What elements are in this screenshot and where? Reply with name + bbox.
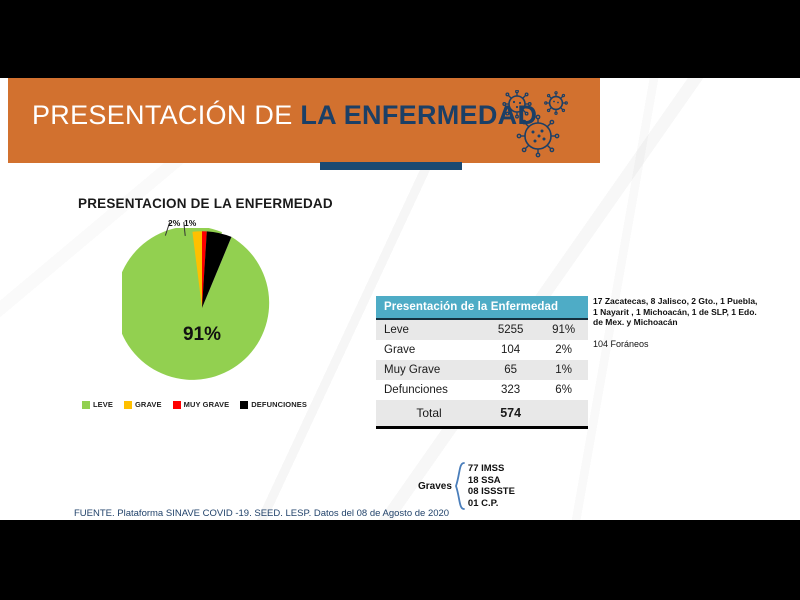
- legend-item-leve: LEVE: [82, 400, 113, 409]
- legend-swatch-leve: [82, 401, 90, 409]
- cell-label-defunciones: Defunciones: [376, 380, 482, 400]
- graves-list: 77 IMSS 18 SSA 08 ISSSTE 01 C.P.: [468, 463, 515, 509]
- legend-label-grave: GRAVE: [135, 400, 162, 409]
- coronavirus-icon: [498, 90, 578, 158]
- side-note-line-1: 1 Nayarit , 1 Michoacán, 1 de SLP, 1 Edo…: [593, 307, 793, 318]
- table-row: Grave 104 2%: [376, 340, 588, 360]
- graves-item-0: 77 IMSS: [468, 463, 515, 475]
- side-note-foraneos: 104 Foráneos: [593, 339, 793, 349]
- chart-legend: LEVE GRAVE MUY GRAVE DEFUNCIONES: [82, 400, 342, 409]
- legend-label-defunciones: DEFUNCIONES: [251, 400, 307, 409]
- letterbox-top: [0, 0, 800, 78]
- chart-title: PRESENTACION DE LA ENFERMEDAD: [78, 196, 333, 211]
- graves-item-1: 18 SSA: [468, 475, 515, 487]
- cell-label-leve: Leve: [376, 319, 482, 340]
- side-note-line-2: de Mex. y Michoacán: [593, 317, 793, 328]
- pie-label-muy-grave: 1%: [184, 218, 196, 228]
- legend-swatch-grave: [124, 401, 132, 409]
- legend-item-defunciones: DEFUNCIONES: [240, 400, 307, 409]
- graves-brace-icon: [455, 462, 465, 510]
- page-title: PRESENTACIÓN DE LA ENFERMEDAD: [32, 100, 537, 131]
- cell-count-total: 574: [482, 400, 539, 428]
- pie-svg: [122, 228, 282, 388]
- cell-count-defunciones: 323: [482, 380, 539, 400]
- cell-label-total: Total: [376, 400, 482, 428]
- legend-label-leve: LEVE: [93, 400, 113, 409]
- slide-canvas: PRESENTACIÓN DE LA ENFERMEDAD: [0, 78, 800, 520]
- cell-count-muy-grave: 65: [482, 360, 539, 380]
- legend-label-muy-grave: MUY GRAVE: [184, 400, 230, 409]
- cell-label-grave: Grave: [376, 340, 482, 360]
- table-header-cell: Presentación de la Enfermedad: [376, 296, 588, 319]
- presentation-table: Presentación de la Enfermedad Leve 5255 …: [376, 296, 588, 429]
- pie-label-grave: 2%: [168, 218, 180, 228]
- legend-item-muy-grave: MUY GRAVE: [173, 400, 230, 409]
- header-accent-bar: [320, 162, 462, 170]
- table-row: Defunciones 323 6%: [376, 380, 588, 400]
- cell-label-muy-grave: Muy Grave: [376, 360, 482, 380]
- slide-root: PRESENTACIÓN DE LA ENFERMEDAD: [0, 0, 800, 600]
- cell-pct-defunciones: 6%: [539, 380, 588, 400]
- letterbox-bottom: [0, 520, 800, 600]
- pie-chart: 91%: [122, 228, 282, 388]
- table-total-row: Total 574: [376, 400, 588, 428]
- cell-count-grave: 104: [482, 340, 539, 360]
- pie-center-label: 91%: [122, 324, 282, 346]
- legend-item-grave: GRAVE: [124, 400, 162, 409]
- source-footer: FUENTE. Plataforma SINAVE COVID -19. SEE…: [74, 508, 449, 519]
- graves-annotation: Graves 77 IMSS 18 SSA 08 ISSSTE 01 C.P.: [418, 462, 515, 510]
- table-row: Leve 5255 91%: [376, 319, 588, 340]
- header-banner: PRESENTACIÓN DE LA ENFERMEDAD: [8, 78, 600, 163]
- table-header-row: Presentación de la Enfermedad: [376, 296, 588, 319]
- graves-item-2: 08 ISSSTE: [468, 486, 515, 498]
- graves-item-3: 01 C.P.: [468, 498, 515, 510]
- cell-count-leve: 5255: [482, 319, 539, 340]
- cell-pct-leve: 91%: [539, 319, 588, 340]
- graves-label: Graves: [418, 481, 452, 492]
- side-note: 17 Zacatecas, 8 Jalisco, 2 Gto., 1 Puebl…: [593, 296, 793, 349]
- cell-pct-muy-grave: 1%: [539, 360, 588, 380]
- table-row: Muy Grave 65 1%: [376, 360, 588, 380]
- pie-chart-panel: PRESENTACION DE LA ENFERMEDAD 91% 2% 1%: [60, 196, 360, 426]
- legend-swatch-muy-grave: [173, 401, 181, 409]
- cell-pct-total: [539, 400, 588, 428]
- cell-pct-grave: 2%: [539, 340, 588, 360]
- side-note-line-0: 17 Zacatecas, 8 Jalisco, 2 Gto., 1 Puebl…: [593, 296, 793, 307]
- page-title-light: PRESENTACIÓN DE: [32, 100, 300, 130]
- legend-swatch-defunciones: [240, 401, 248, 409]
